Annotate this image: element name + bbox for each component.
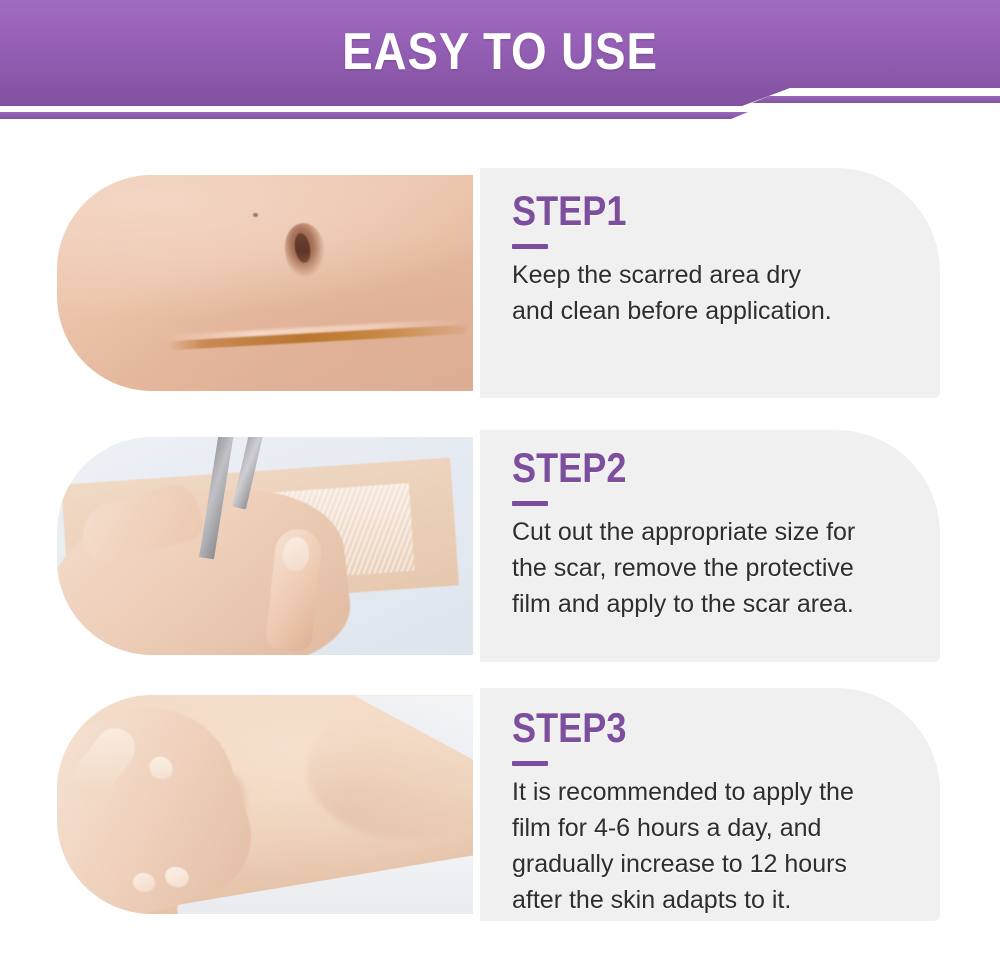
skin-mole <box>253 213 258 217</box>
step-2-text-block: STEP2 Cut out the appropriate size for t… <box>512 445 855 622</box>
header-accent-stripe-left <box>0 112 748 119</box>
step-3-text-block: STEP3 It is recommended to apply the fil… <box>512 705 854 918</box>
step-1-photo-frame <box>50 168 480 398</box>
step-1-heading: STEP1 <box>512 188 787 234</box>
hand-cutting-silicone-patch-with-scissors-photo <box>57 437 473 655</box>
step-1-underline-dash <box>512 244 548 249</box>
product-infographic-page: EASY TO USE STEP1 Keep the scarred area … <box>0 0 1000 978</box>
skin-surface <box>57 175 473 391</box>
step-1-text-block: STEP1 Keep the scarred area dry and clea… <box>512 188 832 329</box>
step-2-body: Cut out the appropriate size for the sca… <box>512 514 855 622</box>
step-2-underline-dash <box>512 501 548 506</box>
step-3-photo-frame <box>50 688 480 921</box>
step-2-photo-frame <box>50 430 480 662</box>
hand-resting-on-abdomen-photo <box>57 695 473 914</box>
step-3-heading: STEP3 <box>512 705 806 751</box>
step-3-body: It is recommended to apply the film for … <box>512 774 854 918</box>
page-title: EASY TO USE <box>60 22 940 82</box>
header-accent-stripe-right <box>752 96 1000 103</box>
header-banner: EASY TO USE <box>0 0 1000 122</box>
step-3-underline-dash <box>512 761 548 766</box>
abdomen-with-surgical-scar-photo <box>57 175 473 391</box>
step-2-heading: STEP2 <box>512 445 807 491</box>
step-1-body: Keep the scarred area dry and clean befo… <box>512 257 832 329</box>
